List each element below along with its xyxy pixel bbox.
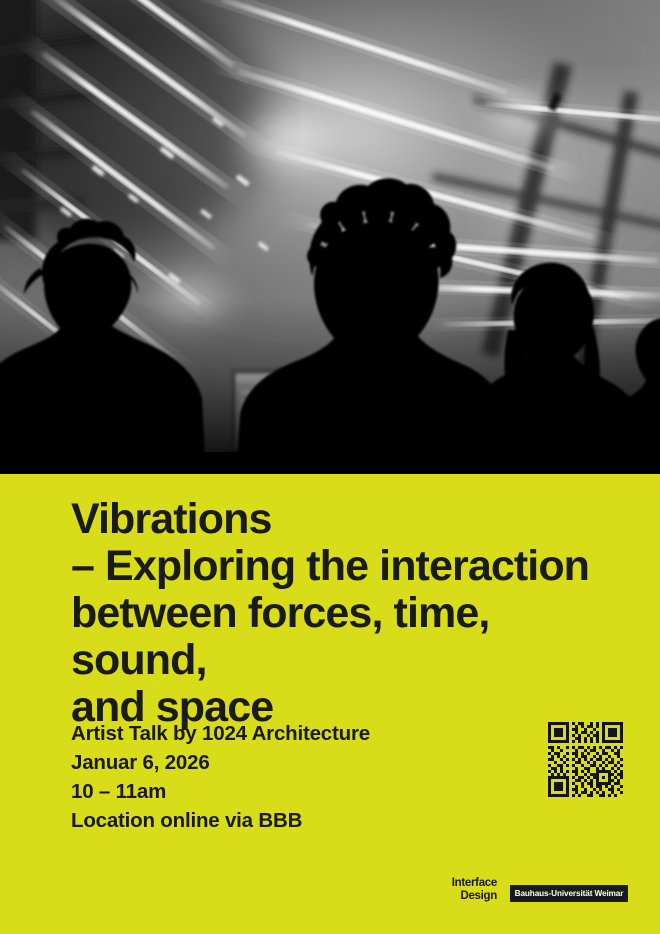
logo-bar: Interface Design Bauhaus-Universität Wei… [0, 876, 660, 908]
page-title: Vibrations – Exploring the interaction b… [71, 496, 611, 731]
interface-design-logo: Interface Design [452, 877, 497, 902]
event-speaker: Artist Talk by 1024 Architecture [71, 719, 370, 748]
photo-artwork [0, 0, 660, 474]
event-details: Artist Talk by 1024 Architecture Januar … [71, 719, 370, 835]
interface-design-logo-line1: Interface [452, 877, 497, 890]
interface-design-logo-line2: Design [452, 890, 497, 903]
qr-code-graphic [548, 722, 623, 797]
event-date: Januar 6, 2026 [71, 748, 370, 777]
bauhaus-university-weimar-logo: Bauhaus-Universität Weimar [510, 885, 628, 902]
concert-light-installation-photo [0, 0, 660, 474]
qr-code[interactable] [548, 722, 623, 797]
event-time: 10 – 11am [71, 777, 370, 806]
event-location: Location online via BBB [71, 806, 370, 835]
poster: Vibrations – Exploring the interaction b… [0, 0, 660, 934]
